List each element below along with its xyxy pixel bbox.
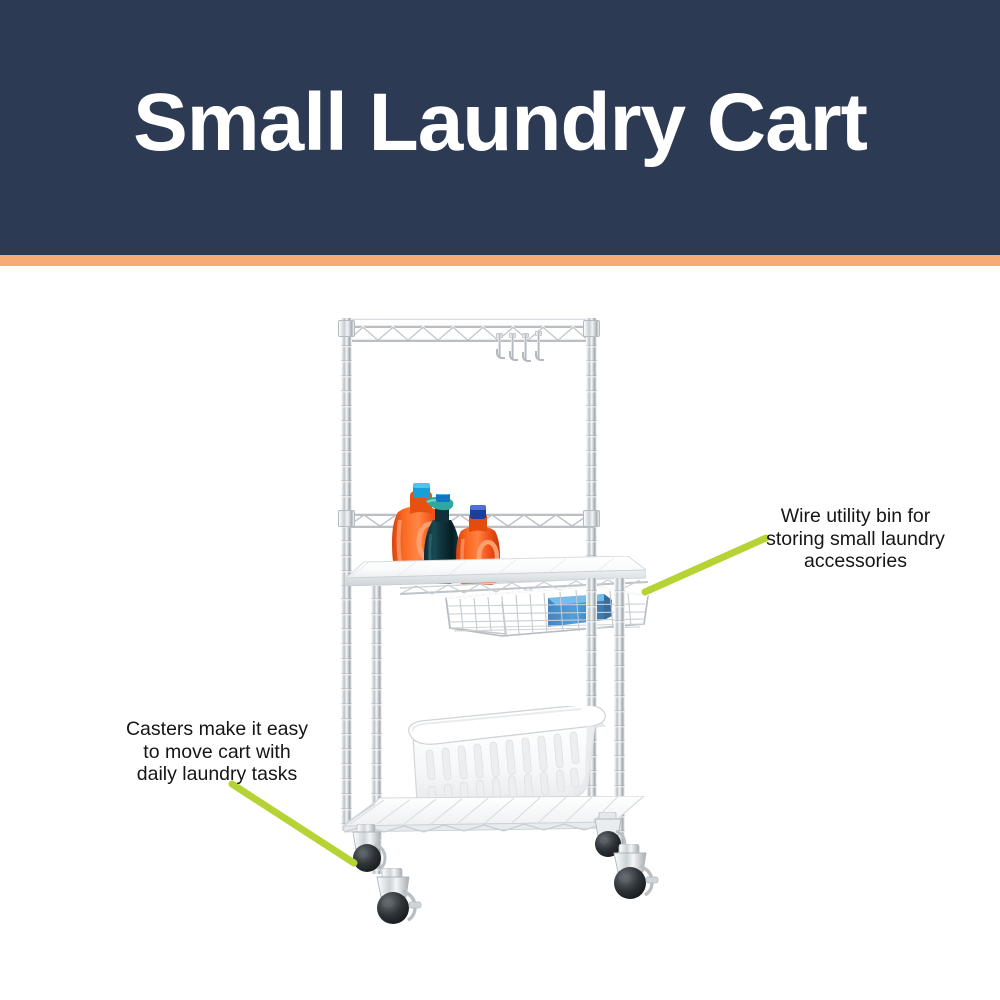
- post-collar-mid-right: [583, 510, 600, 527]
- garment-hanging-bar: [348, 325, 594, 342]
- post-collar-top-left: [338, 320, 355, 337]
- infographic-page: Small Laundry Cart: [0, 0, 1000, 1000]
- callout-wire-utility-bin: Wire utility bin for storing small laund…: [748, 505, 963, 573]
- post-collar-mid-left: [338, 510, 355, 527]
- s-hook-4: [536, 334, 541, 360]
- s-hook-1: [497, 336, 502, 358]
- upright-post-rear-left: [341, 318, 352, 586]
- post-collar-top-right: [583, 320, 600, 337]
- upright-post-rear-left-lower: [341, 586, 352, 831]
- s-hook-2: [510, 336, 515, 360]
- s-hook-3: [523, 336, 528, 361]
- callout-casters: Casters make it easy to move cart with d…: [108, 718, 326, 786]
- upright-post-rear-right: [586, 318, 597, 586]
- caster-front-left: [369, 868, 427, 936]
- product-illustration-laundry-cart: [0, 0, 1000, 1000]
- hanging-bar-back-wire: [352, 318, 592, 320]
- caster-front-right: [606, 844, 664, 910]
